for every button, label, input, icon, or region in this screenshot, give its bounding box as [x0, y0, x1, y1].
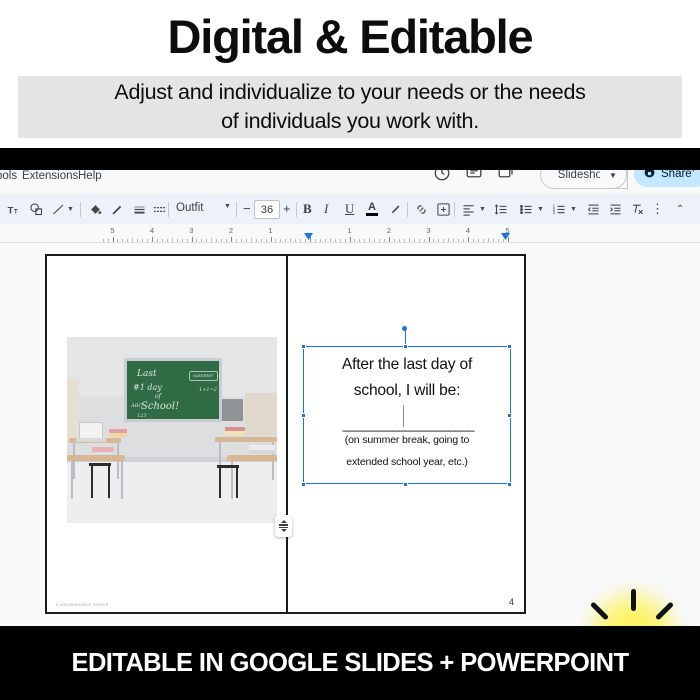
shape-icon[interactable] — [29, 200, 44, 218]
chalk-text-4: School! — [141, 401, 179, 412]
clear-format-icon[interactable] — [630, 200, 645, 218]
numbered-list-icon[interactable]: 123 — [552, 200, 567, 218]
bulleted-list-icon[interactable] — [519, 200, 534, 218]
cursor-ray-n — [631, 589, 636, 611]
line-caret-icon[interactable]: ▼ — [67, 200, 74, 218]
black-overlay-bar — [0, 148, 700, 170]
svg-text:T: T — [14, 208, 18, 215]
font-size-increase-button[interactable]: + — [283, 201, 291, 216]
selection-handle-se[interactable] — [507, 482, 512, 487]
font-family-selector[interactable]: Outfit — [176, 202, 203, 214]
google-slides-window: ools Extensions Help ▼ Slideshow ▼ Share… — [0, 148, 700, 626]
textbox-line-1: After the last day of — [304, 353, 510, 377]
fill-color-icon[interactable] — [88, 200, 103, 218]
line-dash-icon[interactable] — [152, 200, 167, 218]
selection-handle-sw[interactable] — [301, 482, 306, 487]
textbox-blank-line: _____________________ — [309, 417, 507, 432]
collapse-toolbar-icon[interactable]: ⌃ — [676, 200, 684, 218]
ruler-baseline — [0, 242, 700, 243]
more-options-icon[interactable]: ⋮ — [651, 200, 664, 218]
selected-text-box[interactable]: After the last day of school, I will be:… — [303, 346, 511, 484]
menu-item-help[interactable]: Help — [78, 170, 102, 182]
slide-credit: © AGU RESOURCE CENTER — [56, 603, 109, 607]
text-color-button[interactable]: A — [366, 200, 378, 218]
indent-less-icon[interactable] — [586, 200, 601, 218]
textbox-line-3: (on summer break, going to — [304, 434, 510, 446]
ruler-number: 2 — [229, 226, 233, 235]
comment-add-icon[interactable] — [436, 200, 451, 218]
chalk-text-1: Last — [137, 369, 157, 379]
line-spacing-icon[interactable] — [494, 200, 509, 218]
font-family-caret-icon[interactable]: ▼ — [224, 203, 231, 210]
ruler-number: 3 — [189, 226, 193, 235]
classroom-chalkboard-photo[interactable]: Last #1 day of School! summer 1+1=2 ABC … — [67, 337, 277, 523]
italic-button[interactable]: I — [324, 200, 328, 218]
ruler-number: 5 — [110, 226, 114, 235]
selection-handle-e[interactable] — [507, 413, 512, 418]
link-icon[interactable] — [414, 200, 429, 218]
chalkboard: Last #1 day of School! summer 1+1=2 ABC … — [124, 358, 222, 422]
promo-subtitle-line1: Adjust and individualize to your needs o… — [18, 78, 682, 107]
font-size-input[interactable]: 36 — [254, 200, 280, 219]
promo-subtitle: Adjust and individualize to your needs o… — [18, 78, 682, 135]
chalk-text-3: of — [155, 393, 161, 400]
svg-text:3: 3 — [553, 209, 556, 214]
slide-center-divider — [286, 256, 288, 612]
font-size-decrease-button[interactable]: − — [243, 201, 251, 216]
ruler-number: 1 — [347, 226, 351, 235]
promo-header: Digital & Editable Adjust and individual… — [0, 0, 700, 150]
click-cursor-graphic — [570, 573, 700, 626]
slide-canvas[interactable]: Last #1 day of School! summer 1+1=2 ABC … — [0, 244, 700, 626]
promo-title: Digital & Editable — [0, 12, 700, 61]
selection-handle-nw[interactable] — [301, 344, 306, 349]
numbered-caret-icon[interactable]: ▼ — [570, 200, 577, 218]
bold-button[interactable]: B — [303, 200, 312, 218]
textbox-line-4: extended school year, etc.) — [304, 456, 510, 468]
chalk-text-2: #1 day — [133, 383, 162, 392]
menu-item-tools[interactable]: ools — [0, 170, 17, 182]
slide-page[interactable]: Last #1 day of School! summer 1+1=2 ABC … — [45, 254, 526, 614]
line-weight-icon[interactable] — [132, 200, 147, 218]
text-color-swatch — [366, 213, 378, 216]
bottom-banner-text: EDITABLE IN GOOGLE SLIDES + POWERPOINT — [72, 649, 629, 678]
indent-more-icon[interactable] — [608, 200, 623, 218]
text-size-icon[interactable]: TT — [7, 200, 22, 218]
horizontal-ruler[interactable]: 5432112345 — [0, 226, 700, 244]
pen-color-icon[interactable] — [110, 200, 125, 218]
selection-handle-ne[interactable] — [507, 344, 512, 349]
align-caret-icon[interactable]: ▼ — [479, 200, 486, 218]
textbox-line-2: school, I will be: — [304, 379, 510, 403]
slide-number: 4 — [509, 597, 514, 607]
promo-subtitle-line2: of individuals you work with. — [18, 107, 682, 136]
selection-handle-w[interactable] — [301, 413, 306, 418]
ruler-number: 4 — [150, 226, 154, 235]
selection-handle-s[interactable] — [403, 482, 408, 487]
highlight-color-icon[interactable] — [389, 200, 403, 218]
align-icon[interactable] — [461, 200, 476, 218]
ruler-number: 3 — [426, 226, 430, 235]
ruler-number: 1 — [268, 226, 272, 235]
line-icon[interactable] — [51, 200, 66, 218]
ruler-number: 2 — [387, 226, 391, 235]
image-resize-handle[interactable] — [275, 515, 292, 537]
svg-text:T: T — [8, 205, 14, 215]
bulleted-caret-icon[interactable]: ▼ — [537, 200, 544, 218]
selection-handle-n[interactable] — [403, 344, 408, 349]
ruler-number: 4 — [466, 226, 470, 235]
text-color-label: A — [368, 202, 376, 212]
slides-toolbar: TT ▼ Outfit ▼ − 36 + B I — [0, 194, 700, 224]
menu-item-extensions[interactable]: Extensions — [22, 170, 78, 182]
bottom-banner: EDITABLE IN GOOGLE SLIDES + POWERPOINT — [0, 626, 700, 700]
rotation-handle[interactable] — [402, 326, 407, 331]
underline-button[interactable]: U — [345, 200, 354, 218]
